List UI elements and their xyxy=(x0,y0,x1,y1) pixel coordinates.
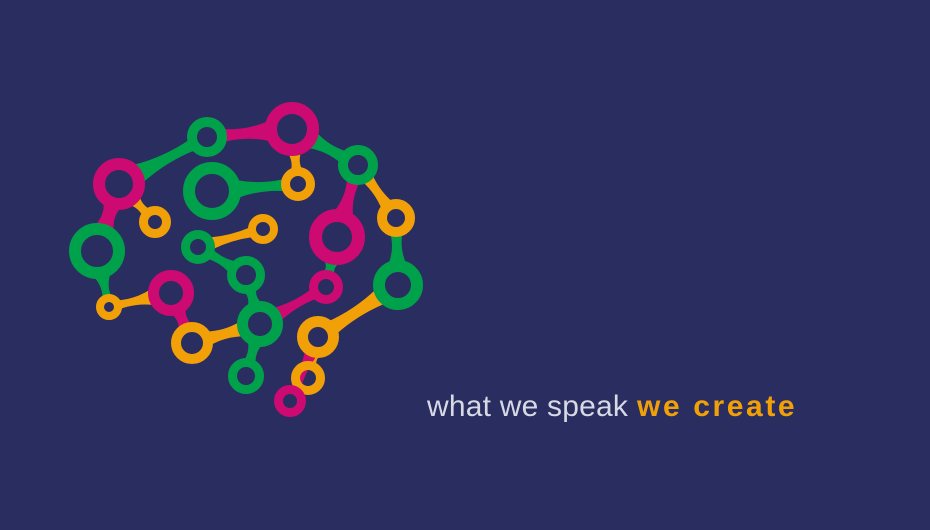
logo-node xyxy=(99,164,139,204)
logo-node xyxy=(303,322,334,353)
logo-node xyxy=(382,204,410,232)
logo-node xyxy=(271,108,313,150)
logo-link xyxy=(223,121,270,142)
neural-network-brain-logo xyxy=(60,95,435,430)
logo-link-layer xyxy=(93,121,406,391)
logo-node-layer xyxy=(75,108,417,413)
logo-link xyxy=(236,179,285,198)
logo-node xyxy=(100,298,118,316)
logo-node xyxy=(154,276,189,311)
logo-node xyxy=(296,366,321,391)
logo-node xyxy=(233,363,260,390)
logo-node xyxy=(316,216,359,259)
logo-node xyxy=(176,327,208,359)
logo-node xyxy=(186,235,211,260)
tagline-accent-text: we create xyxy=(637,390,797,423)
logo-link xyxy=(388,233,406,264)
logo-node xyxy=(189,168,235,214)
logo-node xyxy=(192,122,222,152)
logo-node xyxy=(314,275,339,300)
logo-node xyxy=(252,218,274,240)
logo-node xyxy=(343,150,373,180)
logo-node xyxy=(243,307,278,342)
logo-node xyxy=(286,172,311,197)
tagline: what we speakwe create xyxy=(427,389,797,425)
splash-canvas: what we speakwe create xyxy=(0,0,930,530)
logo-node xyxy=(75,229,119,273)
logo-link xyxy=(210,227,253,249)
logo-node xyxy=(279,390,302,413)
logo-node xyxy=(144,211,167,234)
tagline-light-text: what we speak xyxy=(427,390,628,423)
logo-node xyxy=(232,261,261,290)
logo-node xyxy=(379,266,417,304)
brain-logo-svg xyxy=(60,95,435,430)
